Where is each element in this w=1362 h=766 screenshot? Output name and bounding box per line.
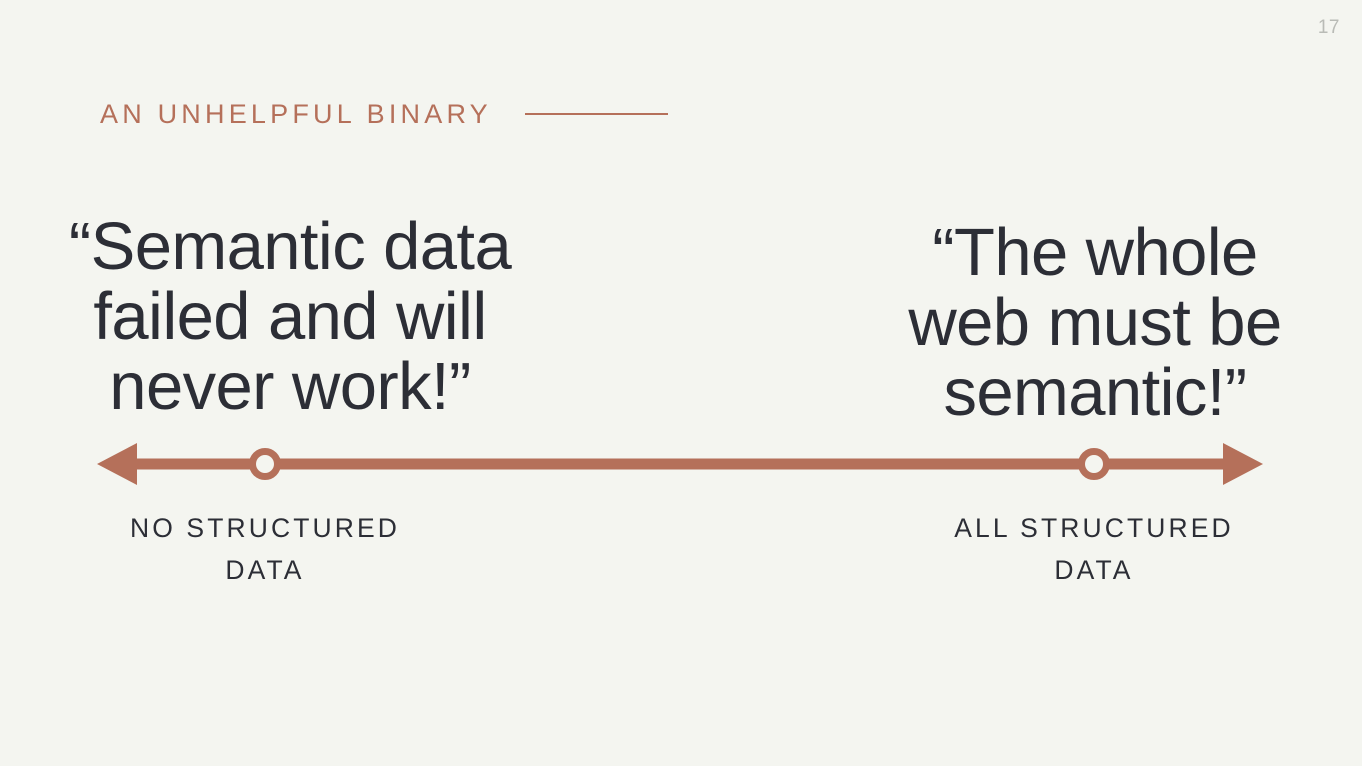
slide-canvas: 17 AN UNHELPFUL BINARY “Semantic data fa… [0,0,1362,766]
axis-label-left: NO STRUCTURED DATA [65,508,465,592]
double-arrow-icon [0,430,1362,500]
quote-left: “Semantic data failed and will never wor… [55,212,525,422]
axis-shaft [128,459,1232,470]
axis-label-right: ALL STRUCTURED DATA [894,508,1294,592]
arrowhead-right-icon [1223,443,1263,485]
marker-no-structured-data [253,452,278,477]
eyebrow-divider-rule [525,113,668,115]
spectrum-axis [0,430,1362,500]
quote-right: “The whole web must be semantic!” [895,218,1295,428]
page-number: 17 [1318,17,1340,39]
arrowhead-left-icon [97,443,137,485]
marker-all-structured-data [1082,452,1107,477]
section-title: AN UNHELPFUL BINARY [100,101,492,128]
section-eyebrow: AN UNHELPFUL BINARY [100,96,668,132]
